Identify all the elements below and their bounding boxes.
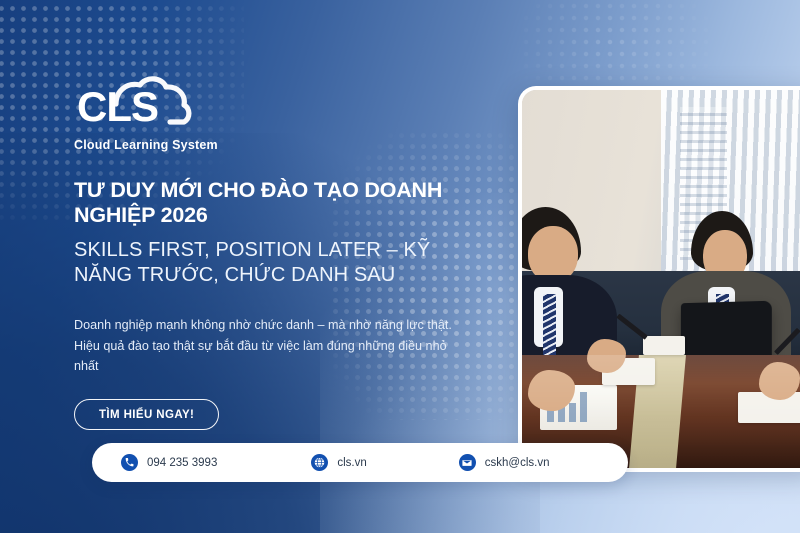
hero-content: CLS Cloud Learning System TƯ DUY MỚI CHO… <box>74 74 504 430</box>
mail-icon <box>459 454 476 471</box>
photo-document-stack <box>643 336 684 355</box>
globe-icon <box>311 454 328 471</box>
contact-email[interactable]: cskh@cls.vn <box>459 454 550 471</box>
contact-bar: 094 235 3993 cls.vn <box>92 443 628 482</box>
svg-text:CLS: CLS <box>77 83 158 130</box>
business-meeting-photo <box>522 90 800 468</box>
contact-website-label: cls.vn <box>337 457 366 469</box>
brand-logo[interactable]: CLS Cloud Learning System <box>74 74 504 152</box>
hero-description: Doanh nghiệp mạnh không nhờ chức danh – … <box>74 315 474 377</box>
page-title: TƯ DUY MỚI CHO ĐÀO TẠO DOANH NGHIỆP 2026 <box>74 178 504 229</box>
page-subtitle: SKILLS FIRST, POSITION LATER – KỸ NĂNG T… <box>74 238 494 289</box>
contact-phone-label: 094 235 3993 <box>147 457 217 469</box>
contact-website[interactable]: cls.vn <box>311 454 366 471</box>
contact-email-label: cskh@cls.vn <box>485 457 550 469</box>
meeting-photo-card <box>518 86 800 472</box>
brand-tagline: Cloud Learning System <box>74 138 504 152</box>
learn-more-button[interactable]: TÌM HIỂU NGAY! <box>74 399 219 430</box>
contact-phone[interactable]: 094 235 3993 <box>121 454 217 471</box>
cloud-icon: CLS <box>74 74 200 136</box>
phone-icon <box>121 454 138 471</box>
hero-banner: CLS Cloud Learning System TƯ DUY MỚI CHO… <box>0 0 800 533</box>
cls-logo-mark: CLS <box>74 74 200 136</box>
